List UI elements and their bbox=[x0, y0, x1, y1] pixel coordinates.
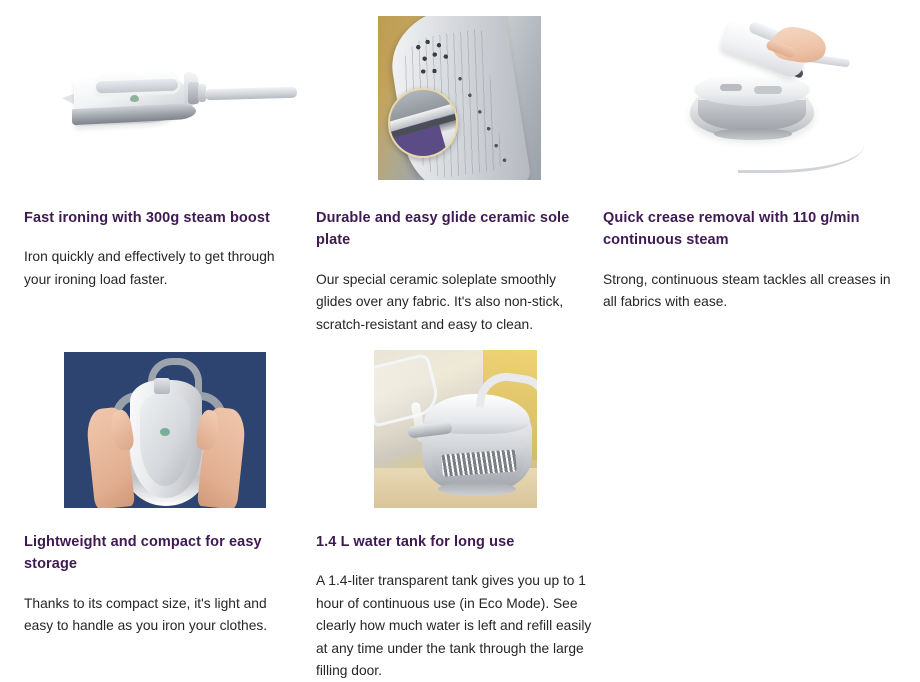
steam-iron-product-photo bbox=[60, 20, 300, 180]
feature-card-steam-boost: Fast ironing with 300g steam boost Iron … bbox=[0, 0, 296, 291]
feature-title: Fast ironing with 300g steam boost bbox=[24, 207, 296, 229]
generator-foot-shape bbox=[714, 128, 792, 140]
hand-lifting-iron-from-base-photo bbox=[636, 16, 876, 180]
feature-card-continuous-steam: Quick crease removal with 110 g/min cont… bbox=[592, 0, 920, 314]
iron-brand-logo-mark bbox=[130, 95, 139, 102]
feature-card-lightweight-compact: Lightweight and compact for easy storage… bbox=[0, 350, 296, 638]
feature-title: 1.4 L water tank for long use bbox=[316, 531, 586, 553]
carry-hose-nozzle-shape bbox=[154, 378, 170, 394]
feature-title: Quick crease removal with 110 g/min cont… bbox=[603, 207, 903, 252]
filling-water-tank-photo bbox=[374, 350, 537, 508]
iron-hose-shape bbox=[205, 87, 297, 100]
hands-carrying-steam-generator-photo bbox=[64, 352, 266, 508]
feature-body: Our special ceramic soleplate smoothly g… bbox=[316, 269, 572, 336]
feature-body: Thanks to its compact size, it's light a… bbox=[24, 593, 276, 638]
feature-card-ceramic-soleplate: Durable and easy glide ceramic sole plat… bbox=[296, 0, 592, 336]
feature-grid: Fast ironing with 300g steam boost Iron … bbox=[0, 0, 920, 682]
feature-title: Durable and easy glide ceramic sole plat… bbox=[316, 207, 578, 252]
feature-body: Strong, continuous steam tackles all cre… bbox=[603, 269, 893, 314]
ceramic-soleplate-macro-photo bbox=[378, 16, 541, 180]
feature-row-1: Fast ironing with 300g steam boost Iron … bbox=[0, 0, 920, 330]
generator-lid-slot-right bbox=[754, 86, 782, 94]
feature-body: Iron quickly and effectively to get thro… bbox=[24, 246, 288, 291]
soleplate-magnifier-inset bbox=[388, 88, 458, 158]
feature-row-2: Lightweight and compact for easy storage… bbox=[0, 350, 920, 682]
carry-brand-logo-mark bbox=[160, 428, 170, 436]
generator-lid-slot-left bbox=[720, 84, 742, 91]
feature-card-water-tank: 1.4 L water tank for long use A 1.4-lite… bbox=[296, 350, 592, 682]
carry-iron-inner-shape bbox=[140, 394, 190, 486]
generator-lid-shape bbox=[694, 74, 810, 106]
feature-body: A 1.4-liter transparent tank gives you u… bbox=[316, 570, 598, 682]
feature-title: Lightweight and compact for easy storage bbox=[24, 531, 282, 576]
tank-foot-shape bbox=[438, 482, 516, 496]
